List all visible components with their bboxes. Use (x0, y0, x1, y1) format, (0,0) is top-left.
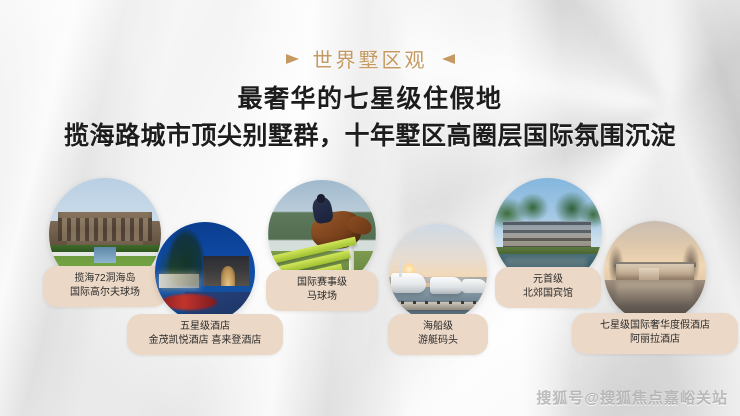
caption-line-1: 国际赛事级 (278, 276, 366, 290)
amenity-item-state-guesthouse: 元首级 北郊国宾馆 (494, 178, 602, 286)
headline-line-1: 最奢华的七星级住假地 (0, 82, 740, 116)
amenity-item-alila: 七星级国际奢华度假酒店 阿丽拉酒店 (604, 221, 706, 323)
headline-line-2: 揽海路城市顶尖别墅群，十年墅区高圈层国际氛围沉淀 (0, 118, 740, 154)
amenity-caption-polo: 国际赛事级 马球场 (266, 270, 378, 311)
amenity-photo-hotels (155, 222, 255, 322)
amenity-item-golf: 揽海72洞海岛 国际高尔夫球场 (49, 178, 161, 290)
watermark: 搜狐号@搜狐焦点嘉峪关站 (536, 387, 728, 408)
amenity-photo-marina (389, 224, 487, 322)
amenity-item-polo: 国际赛事级 马球场 (268, 180, 376, 288)
caption-line-2: 北郊国宾馆 (507, 287, 589, 301)
caption-line-2: 阿丽拉酒店 (584, 333, 726, 347)
caption-line-2: 马球场 (278, 290, 366, 304)
caption-line-1: 海船级 (400, 320, 476, 334)
amenity-caption-golf: 揽海72洞海岛 国际高尔夫球场 (43, 266, 167, 307)
eyebrow-heading: 世界墅区观 (0, 44, 740, 73)
caption-line-1: 揽海72洞海岛 (55, 272, 155, 286)
presentation-slide: 世界墅区观 最奢华的七星级住假地 揽海路城市顶尖别墅群，十年墅区高圈层国际氛围沉… (0, 0, 740, 416)
caption-line-1: 元首级 (507, 273, 589, 287)
caption-line-2: 国际高尔夫球场 (55, 286, 155, 300)
eyebrow-text: 世界墅区观 (313, 44, 428, 73)
caption-line-1: 五星级酒店 (139, 320, 271, 334)
amenity-item-marina: 海船级 游艇码头 (389, 224, 487, 322)
caption-line-2: 游艇码头 (400, 334, 476, 348)
page-title: 最奢华的七星级住假地 揽海路城市顶尖别墅群，十年墅区高圈层国际氛围沉淀 (0, 82, 740, 154)
caption-line-1: 七星级国际奢华度假酒店 (584, 319, 726, 333)
amenity-caption-guesthouse: 元首级 北郊国宾馆 (495, 267, 601, 308)
amenity-caption-marina: 海船级 游艇码头 (388, 314, 488, 355)
arrow-right-icon (286, 54, 299, 64)
amenity-item-five-star-hotels: 五星级酒店 金茂凯悦酒店 喜来登酒店 (155, 222, 255, 322)
caption-line-2: 金茂凯悦酒店 喜来登酒店 (139, 334, 271, 348)
amenity-photo-alila (604, 221, 706, 323)
amenity-caption-alila: 七星级国际奢华度假酒店 阿丽拉酒店 (572, 313, 738, 354)
amenity-caption-hotels: 五星级酒店 金茂凯悦酒店 喜来登酒店 (127, 314, 283, 355)
arrow-left-icon (442, 54, 455, 64)
